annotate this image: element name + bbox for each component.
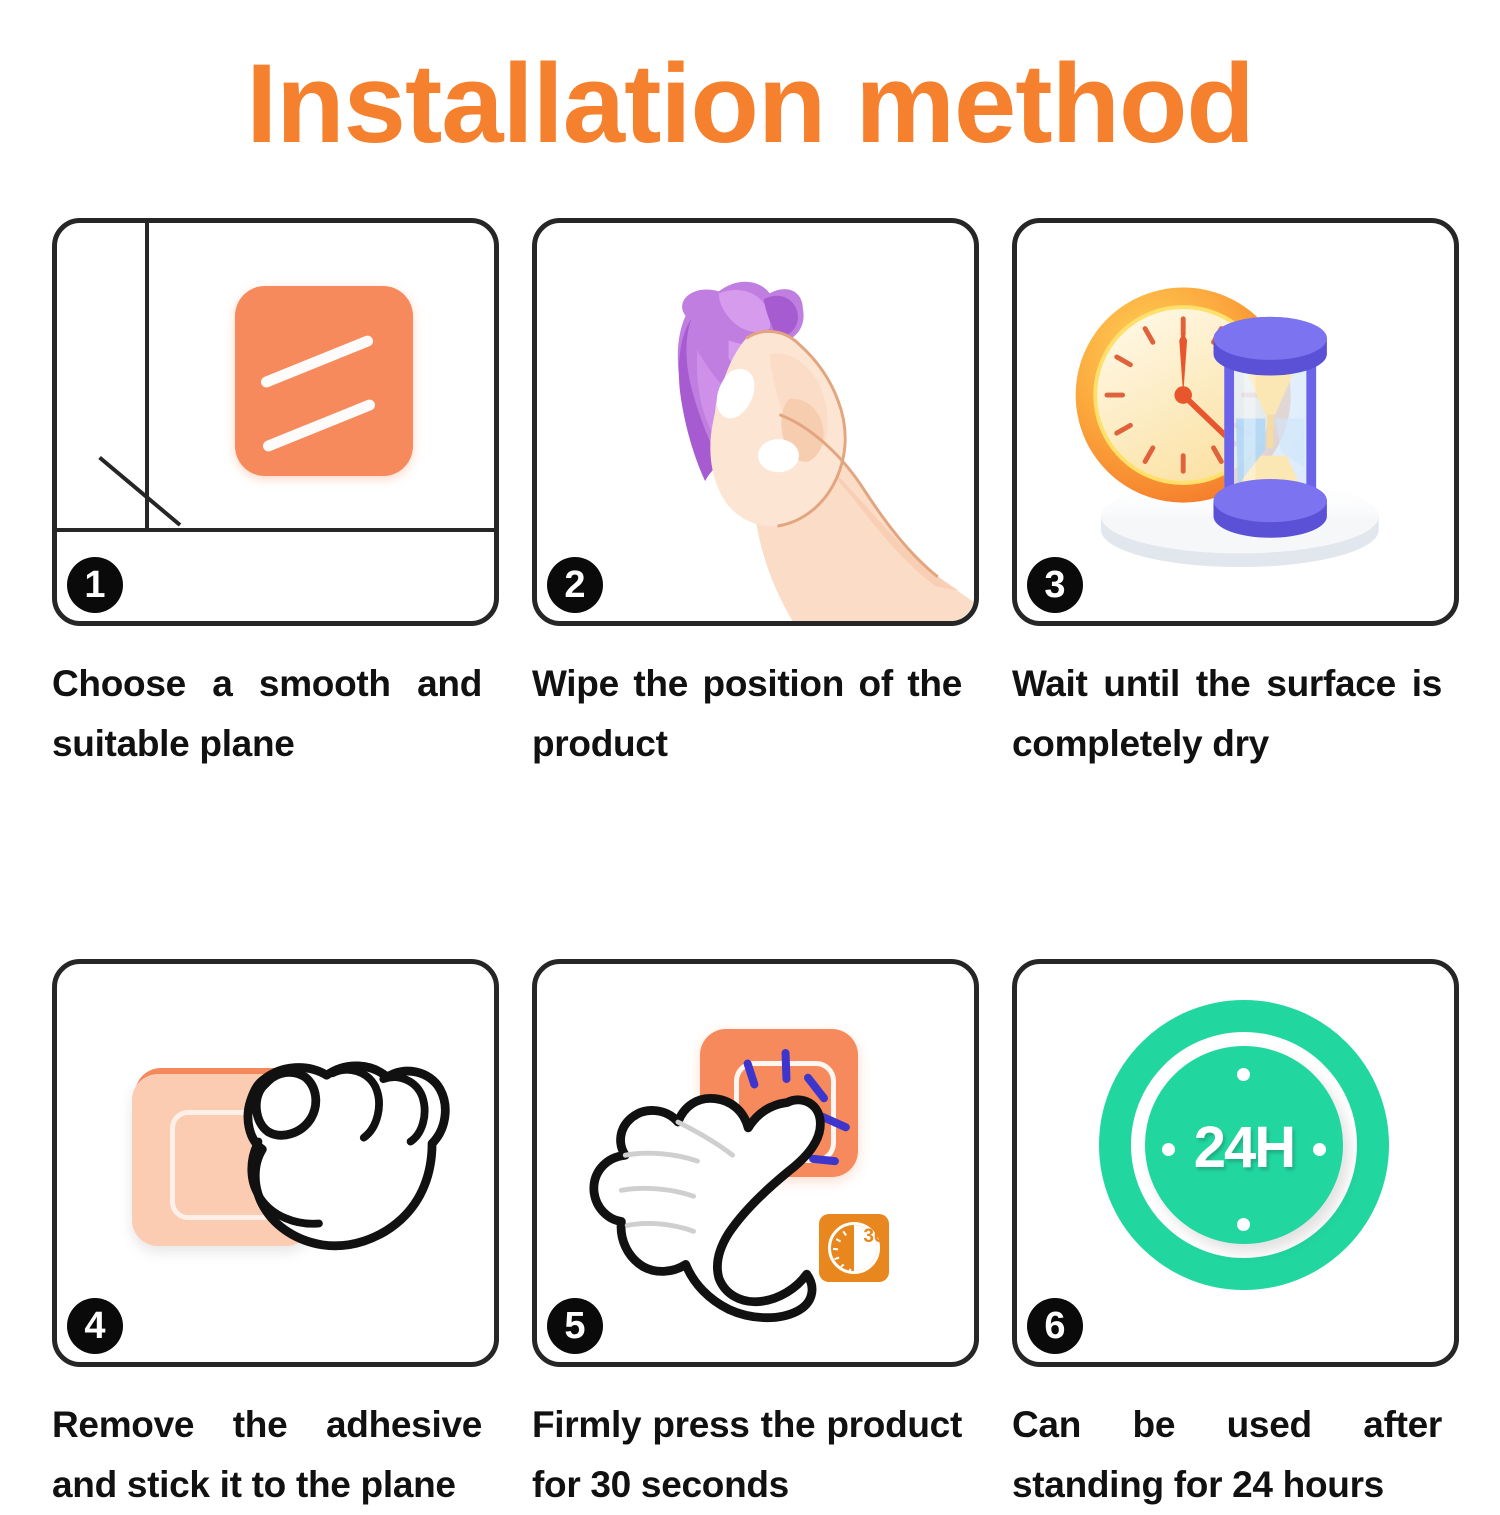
- timer-value-label: 30: [861, 1227, 887, 1246]
- step-number-badge-1: 1: [67, 557, 123, 613]
- wall-vertical-line-icon: [145, 223, 149, 531]
- step-illustration-panel-2: 2: [532, 218, 979, 626]
- wall-corner-diagonal-line-icon: [98, 456, 181, 527]
- page-title: Installation method: [0, 42, 1500, 165]
- panel-3-artwork: [1017, 223, 1454, 621]
- timer-tick-icon: [833, 1248, 838, 1250]
- panel-1-artwork: [57, 223, 494, 621]
- hand-with-cloth-icon: [537, 223, 974, 621]
- step-number-badge-2: 2: [547, 557, 603, 613]
- step-illustration-panel-6: 24H 6: [1012, 959, 1459, 1367]
- steps-grid: 1 Choose a smooth and suitable plane: [52, 218, 1452, 1515]
- timer-tick-icon: [834, 1256, 839, 1260]
- step-illustration-panel-1: 1: [52, 218, 499, 626]
- step-illustration-panel-3: 3: [1012, 218, 1459, 626]
- panel-5-artwork: 30: [537, 964, 974, 1362]
- timer-tick-icon: [839, 1264, 844, 1269]
- wall-horizontal-line-icon: [57, 528, 494, 532]
- clock-and-hourglass-icon: [1017, 223, 1454, 621]
- panel-6-artwork: 24H: [1017, 964, 1454, 1362]
- step-number-badge-6: 6: [1027, 1298, 1083, 1354]
- step-illustration-panel-4: 4: [52, 959, 499, 1367]
- step-caption-3: Wait until the surface is completely dry: [1012, 654, 1442, 774]
- timer-tick-icon: [842, 1231, 847, 1236]
- step-card-6: 24H 6 Can be used after standing for 24 …: [1012, 959, 1472, 1515]
- smooth-plate-icon: [235, 286, 413, 476]
- step-caption-1: Choose a smooth and suitable plane: [52, 654, 482, 774]
- marker-dot-top-icon: [1237, 1068, 1250, 1081]
- timer-tick-icon: [836, 1238, 841, 1242]
- step-card-1: 1 Choose a smooth and suitable plane: [52, 218, 512, 774]
- 24h-label: 24H: [1145, 1119, 1343, 1177]
- step-number-badge-5: 5: [547, 1298, 603, 1354]
- plate-shine-stripe-icon: [261, 398, 376, 453]
- step-caption-6: Can be used after standing for 24 hours: [1012, 1395, 1442, 1515]
- plate-shine-stripe-icon: [259, 334, 374, 389]
- panel-2-artwork: [537, 223, 974, 621]
- pressing-hand-icon: [537, 964, 974, 1362]
- step-number-badge-3: 3: [1027, 557, 1083, 613]
- step-number-badge-4: 4: [67, 1298, 123, 1354]
- panel-4-artwork: [57, 964, 494, 1362]
- step-caption-4: Remove the adhesive and stick it to the …: [52, 1395, 482, 1515]
- step-card-3: 3 Wait until the surface is completely d…: [1012, 218, 1472, 774]
- step-card-5: 30 5 Firmly press the product for 30 sec…: [532, 959, 992, 1515]
- step-illustration-panel-5: 30 5: [532, 959, 979, 1367]
- timer-30-seconds-icon: 30: [819, 1214, 889, 1282]
- step-caption-5: Firmly press the product for 30 seconds: [532, 1395, 962, 1515]
- step-card-4: 4 Remove the adhesive and stick it to th…: [52, 959, 512, 1515]
- step-card-2: 2 Wipe the position of the product: [532, 218, 992, 774]
- peeling-hand-icon: [57, 964, 494, 1362]
- timer-tick-icon: [848, 1268, 852, 1273]
- step-caption-2: Wipe the position of the product: [532, 654, 962, 774]
- marker-dot-bottom-icon: [1237, 1218, 1250, 1231]
